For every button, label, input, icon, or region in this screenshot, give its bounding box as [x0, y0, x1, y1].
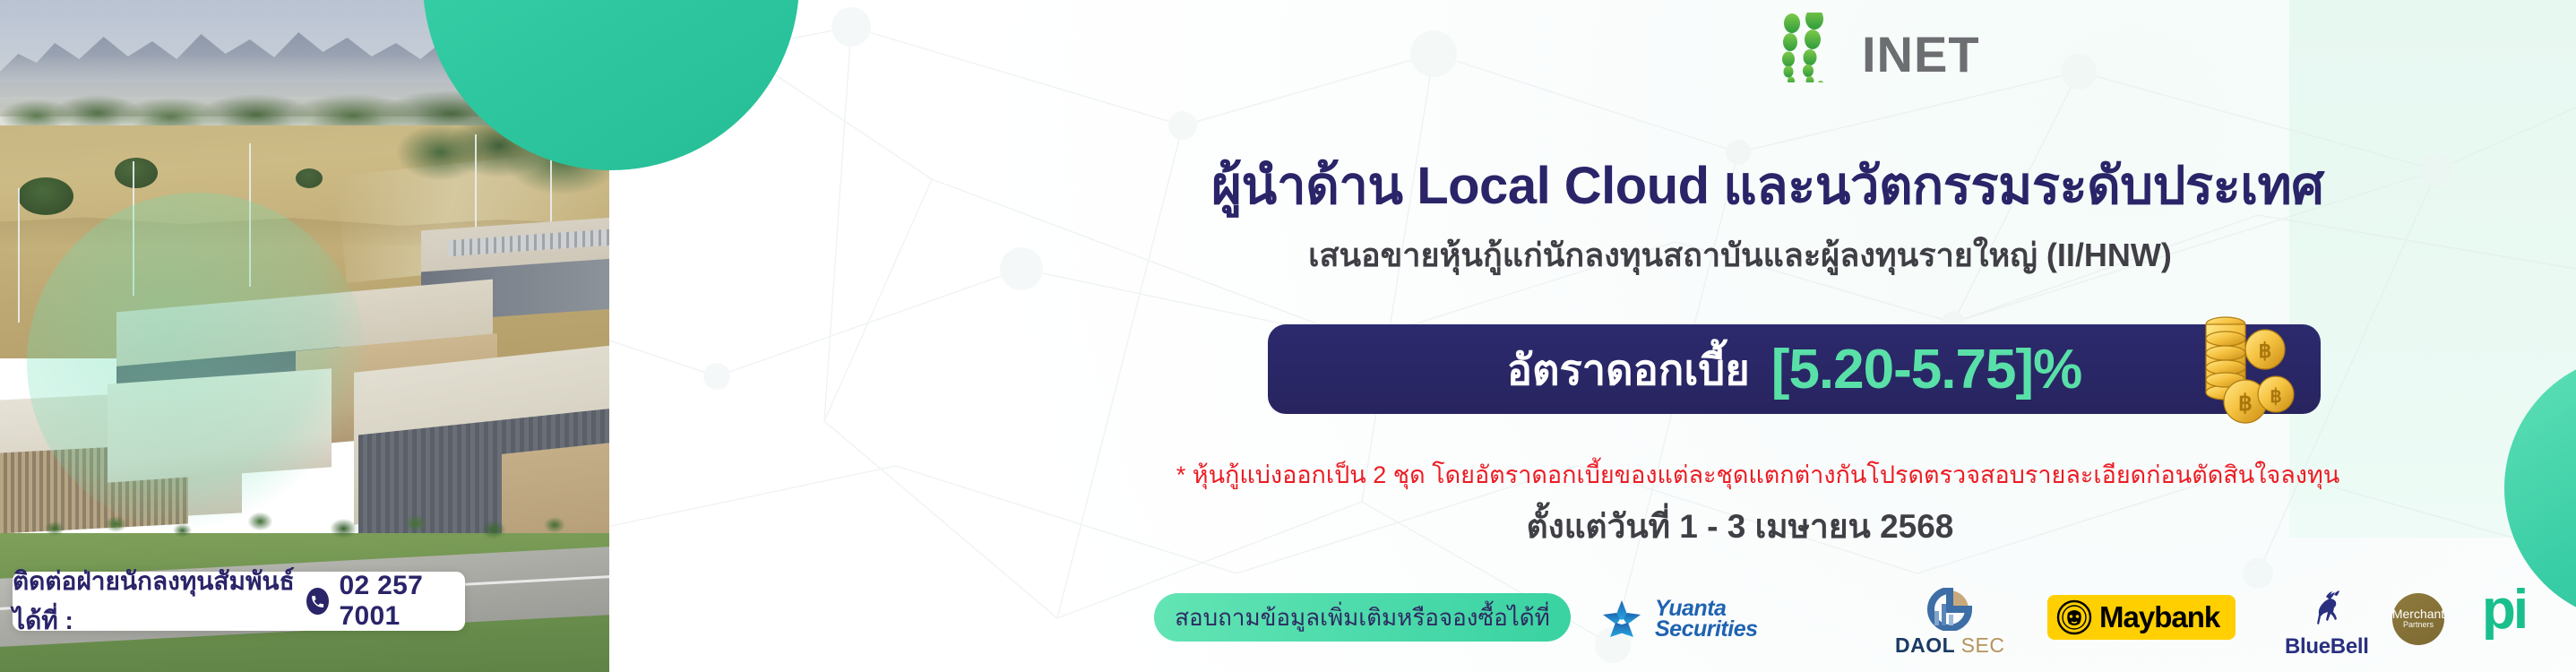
svg-text:฿: ฿	[2238, 391, 2253, 416]
inet-logo: INET	[1758, 13, 2054, 82]
interest-rate-label: อัตราดอกเบี้ย	[1507, 336, 1750, 403]
partner-logo-yuanta[interactable]: Yuanta Securities	[1599, 597, 1758, 642]
green-circle-decoration-soft	[27, 193, 367, 533]
merchant-circle-icon: Merchant Partners	[2392, 593, 2444, 645]
yuanta-line2: Securities	[1655, 619, 1758, 640]
maybank-wordmark: Maybank	[2099, 600, 2219, 634]
merchant-sub: Partners	[2403, 620, 2434, 631]
daol-sub: SEC	[1961, 633, 2005, 657]
inet-dots-logo-icon	[1758, 13, 1865, 82]
contact-label: ติดต่อฝ่ายนักลงทุนสัมพันธ์ได้ที่ :	[13, 562, 296, 641]
gold-coins-icon: ฿ ฿ ฿	[2186, 308, 2296, 429]
bluebell-deer-icon	[2306, 586, 2348, 631]
disclaimer-text: * หุ้นกู้แบ่งออกเป็น 2 ชุด โดยอัตราดอกเบ…	[1122, 455, 2394, 494]
promo-banner: INET ผู้นำด้าน Local Cloud และนวัตกรรมระ…	[0, 0, 2576, 672]
svg-text:฿: ฿	[2270, 386, 2281, 407]
partner-logo-daol[interactable]: DAOL SEC	[1895, 588, 2004, 658]
interest-rate-box: อัตราดอกเบี้ย [5.20-5.75]%	[1268, 324, 2321, 414]
offer-dateline: ตั้งแต่วันที่ 1 - 3 เมษายน 2568	[1211, 500, 2269, 553]
contact-phone-number: 02 257 7001	[340, 571, 465, 632]
inquiry-cta-button[interactable]: สอบถามข้อมูลเพิ่มเติมหรือจองซื้อได้ที่	[1154, 593, 1571, 642]
partner-logo-merchant-partners[interactable]: Merchant Partners	[2392, 593, 2444, 645]
daol-main: DAOL	[1895, 633, 1955, 657]
bluebell-wordmark: BlueBell	[2285, 634, 2369, 659]
partner-logo-maybank[interactable]: Maybank	[2047, 595, 2236, 640]
svg-text:฿: ฿	[2259, 339, 2272, 362]
phone-icon	[306, 588, 329, 615]
inquiry-cta-label: สอบถามข้อมูลเพิ่มเติมหรือจองซื้อได้ที่	[1175, 599, 1550, 636]
partner-logo-pi[interactable]: pi	[2482, 588, 2526, 633]
merchant-main: Merchant	[2392, 607, 2444, 620]
daol-pie-icon	[1926, 588, 1974, 631]
inet-wordmark: INET	[1862, 25, 1980, 83]
pi-wordmark: pi	[2482, 588, 2526, 633]
page-title: ผู้นำด้าน Local Cloud และนวัตกรรมระดับปร…	[1211, 143, 2269, 227]
partner-logo-bluebell[interactable]: BlueBell	[2285, 586, 2369, 659]
investor-relations-contact-card: ติดต่อฝ่ายนักลงทุนสัมพันธ์ได้ที่ : 02 25…	[13, 572, 465, 631]
maybank-tiger-icon	[2056, 599, 2092, 635]
partner-logos: Yuanta Securities DAOL SEC	[1599, 584, 2558, 665]
interest-rate-value: [5.20-5.75]%	[1771, 338, 2081, 401]
subtitle: เสนอขายหุ้นกู้แก่นักลงทุนสถาบันและผู้ลงท…	[1211, 229, 2269, 280]
yuanta-star-icon	[1599, 597, 1644, 642]
